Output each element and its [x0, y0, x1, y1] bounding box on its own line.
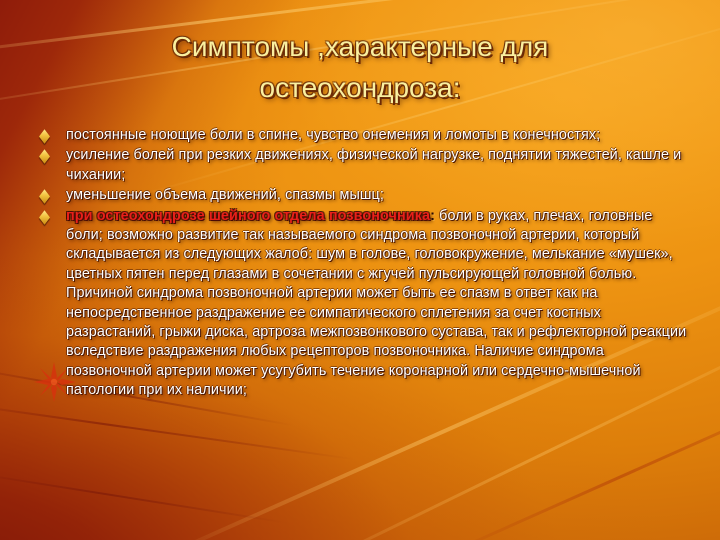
presentation-slide: Симптомы ,характерные для остеохондроза:…: [0, 0, 720, 540]
list-item-body: боли в руках, плечах, головные боли; воз…: [66, 208, 686, 399]
highlighted-term: при остеохондрозе шейного отдела позвоно…: [66, 208, 430, 224]
list-item-text: усиление болей при резких движениях, физ…: [66, 146, 688, 185]
list-item-text: постоянные ноющие боли в спине, чувство …: [66, 126, 688, 145]
list-item: при остеохондрозе шейного отдела позвоно…: [40, 207, 688, 401]
list-item: постоянные ноющие боли в спине, чувство …: [40, 126, 688, 145]
list-item: усиление болей при резких движениях, физ…: [40, 146, 688, 185]
bullet-diamond-icon: [40, 126, 66, 141]
bullet-diamond-icon: [40, 146, 66, 161]
page-title: Симптомы ,характерные для остеохондроза:: [60, 26, 660, 108]
list-item-text: уменьшение объема движений, спазмы мышц;: [66, 186, 688, 205]
bullet-diamond-icon: [40, 207, 66, 222]
bullet-list: постоянные ноющие боли в спине, чувство …: [40, 126, 688, 402]
list-item: уменьшение объема движений, спазмы мышц;: [40, 186, 688, 205]
list-item-text: при остеохондрозе шейного отдела позвоно…: [66, 207, 688, 401]
bullet-diamond-icon: [40, 186, 66, 201]
